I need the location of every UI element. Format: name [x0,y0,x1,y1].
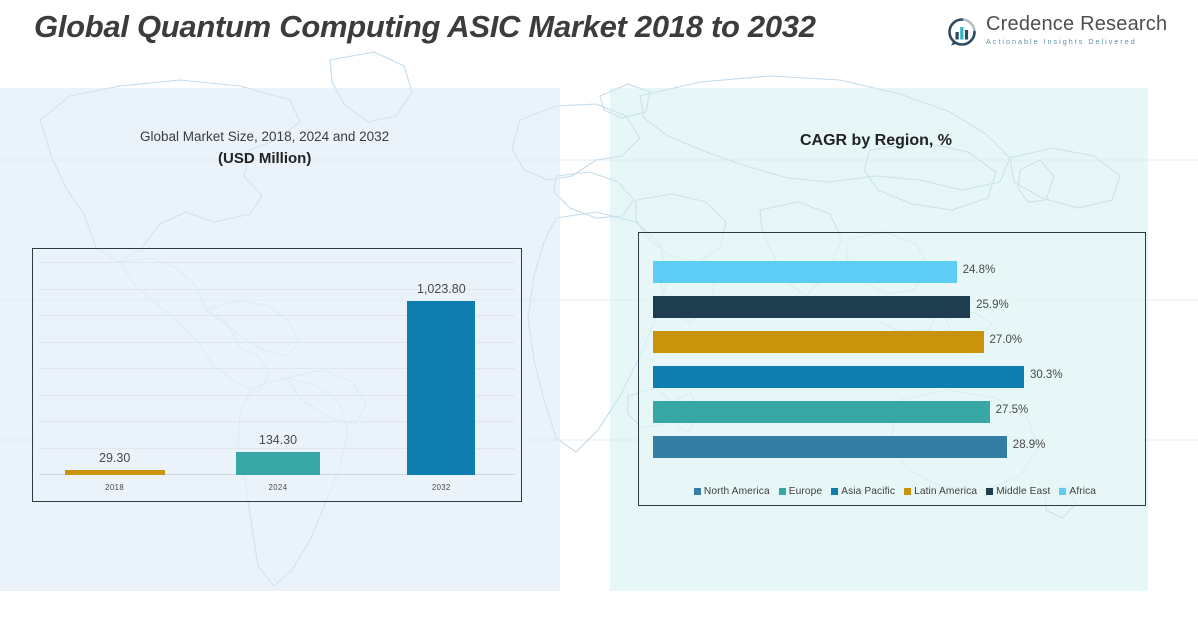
column-category-label: 2032 [381,483,501,492]
legend-label: North America [704,486,770,497]
cagr-by-region-chart: 24.8%25.9%27.0%30.3%27.5%28.9% North Ame… [638,232,1146,506]
hbar [653,436,1007,458]
logo-tagline: Actionable Insights Delivered [986,36,1154,48]
legend-label: Asia Pacific [841,486,895,497]
legend-swatch-icon [1059,488,1066,495]
global-market-size-chart: 29.302018134.3020241,023.802032 [32,248,522,502]
column-bar-group: 1,023.80 [381,261,501,475]
hbar [653,296,970,318]
column-bar [65,470,165,475]
legend-swatch-icon [986,488,993,495]
bar-chart-circle-icon [944,14,980,50]
hbar-value-label: 30.3% [1030,369,1063,381]
hbar [653,261,957,283]
left-chart-title-line1: Global Market Size, 2018, 2024 and 2032 [140,129,389,144]
hbar-row: 27.0% [653,331,1135,353]
legend-label: Europe [789,486,822,497]
column-value-label: 1,023.80 [417,282,466,296]
left-chart-title-line2: (USD Million) [218,150,311,167]
brand-logo: Credence Research Actionable Insights De… [944,12,1154,56]
column-bar [236,452,320,475]
legend-label: Africa [1069,486,1096,497]
hbar-row: 24.8% [653,261,1135,283]
chart-legend: North AmericaEuropeAsia PacificLatin Ame… [653,486,1137,497]
hbar [653,331,984,353]
hbar-value-label: 27.0% [990,334,1023,346]
column-value-label: 134.30 [259,433,297,447]
hbar-row: 25.9% [653,296,1135,318]
hbar-row: 30.3% [653,366,1135,388]
hbar-value-label: 27.5% [996,404,1029,416]
legend-swatch-icon [831,488,838,495]
hbar-row: 28.9% [653,436,1135,458]
legend-item[interactable]: North America [694,486,770,497]
logo-name: Credence Research [986,12,1154,36]
column-category-label: 2018 [55,483,175,492]
legend-item[interactable]: Africa [1059,486,1096,497]
column-bar-group: 134.30 [218,412,338,475]
page-title: Global Quantum Computing ASIC Market 201… [34,8,854,46]
column-chart-plot: 29.302018134.3020241,023.802032 [33,249,521,501]
hbar-chart-plot: 24.8%25.9%27.0%30.3%27.5%28.9% [639,233,1145,505]
hbar-row: 27.5% [653,401,1135,423]
column-value-label: 29.30 [99,451,130,465]
logo-text-block: Credence Research Actionable Insights De… [986,12,1154,48]
infographic-root: Global Quantum Computing ASIC Market 201… [0,0,1198,627]
hbar [653,401,990,423]
legend-item[interactable]: Asia Pacific [831,486,895,497]
legend-swatch-icon [779,488,786,495]
legend-label: Middle East [996,486,1050,497]
legend-swatch-icon [694,488,701,495]
right-chart-title: CAGR by Region, % [800,132,952,150]
legend-label: Latin America [914,486,977,497]
hbar-value-label: 25.9% [976,299,1009,311]
legend-swatch-icon [904,488,911,495]
legend-item[interactable]: Europe [779,486,822,497]
hbar-value-label: 28.9% [1013,439,1046,451]
legend-item[interactable]: Latin America [904,486,977,497]
hbar [653,366,1024,388]
hbar-value-label: 24.8% [963,264,996,276]
column-bar [407,301,475,475]
legend-item[interactable]: Middle East [986,486,1050,497]
column-category-label: 2024 [218,483,338,492]
column-bar-group: 29.30 [55,430,175,475]
